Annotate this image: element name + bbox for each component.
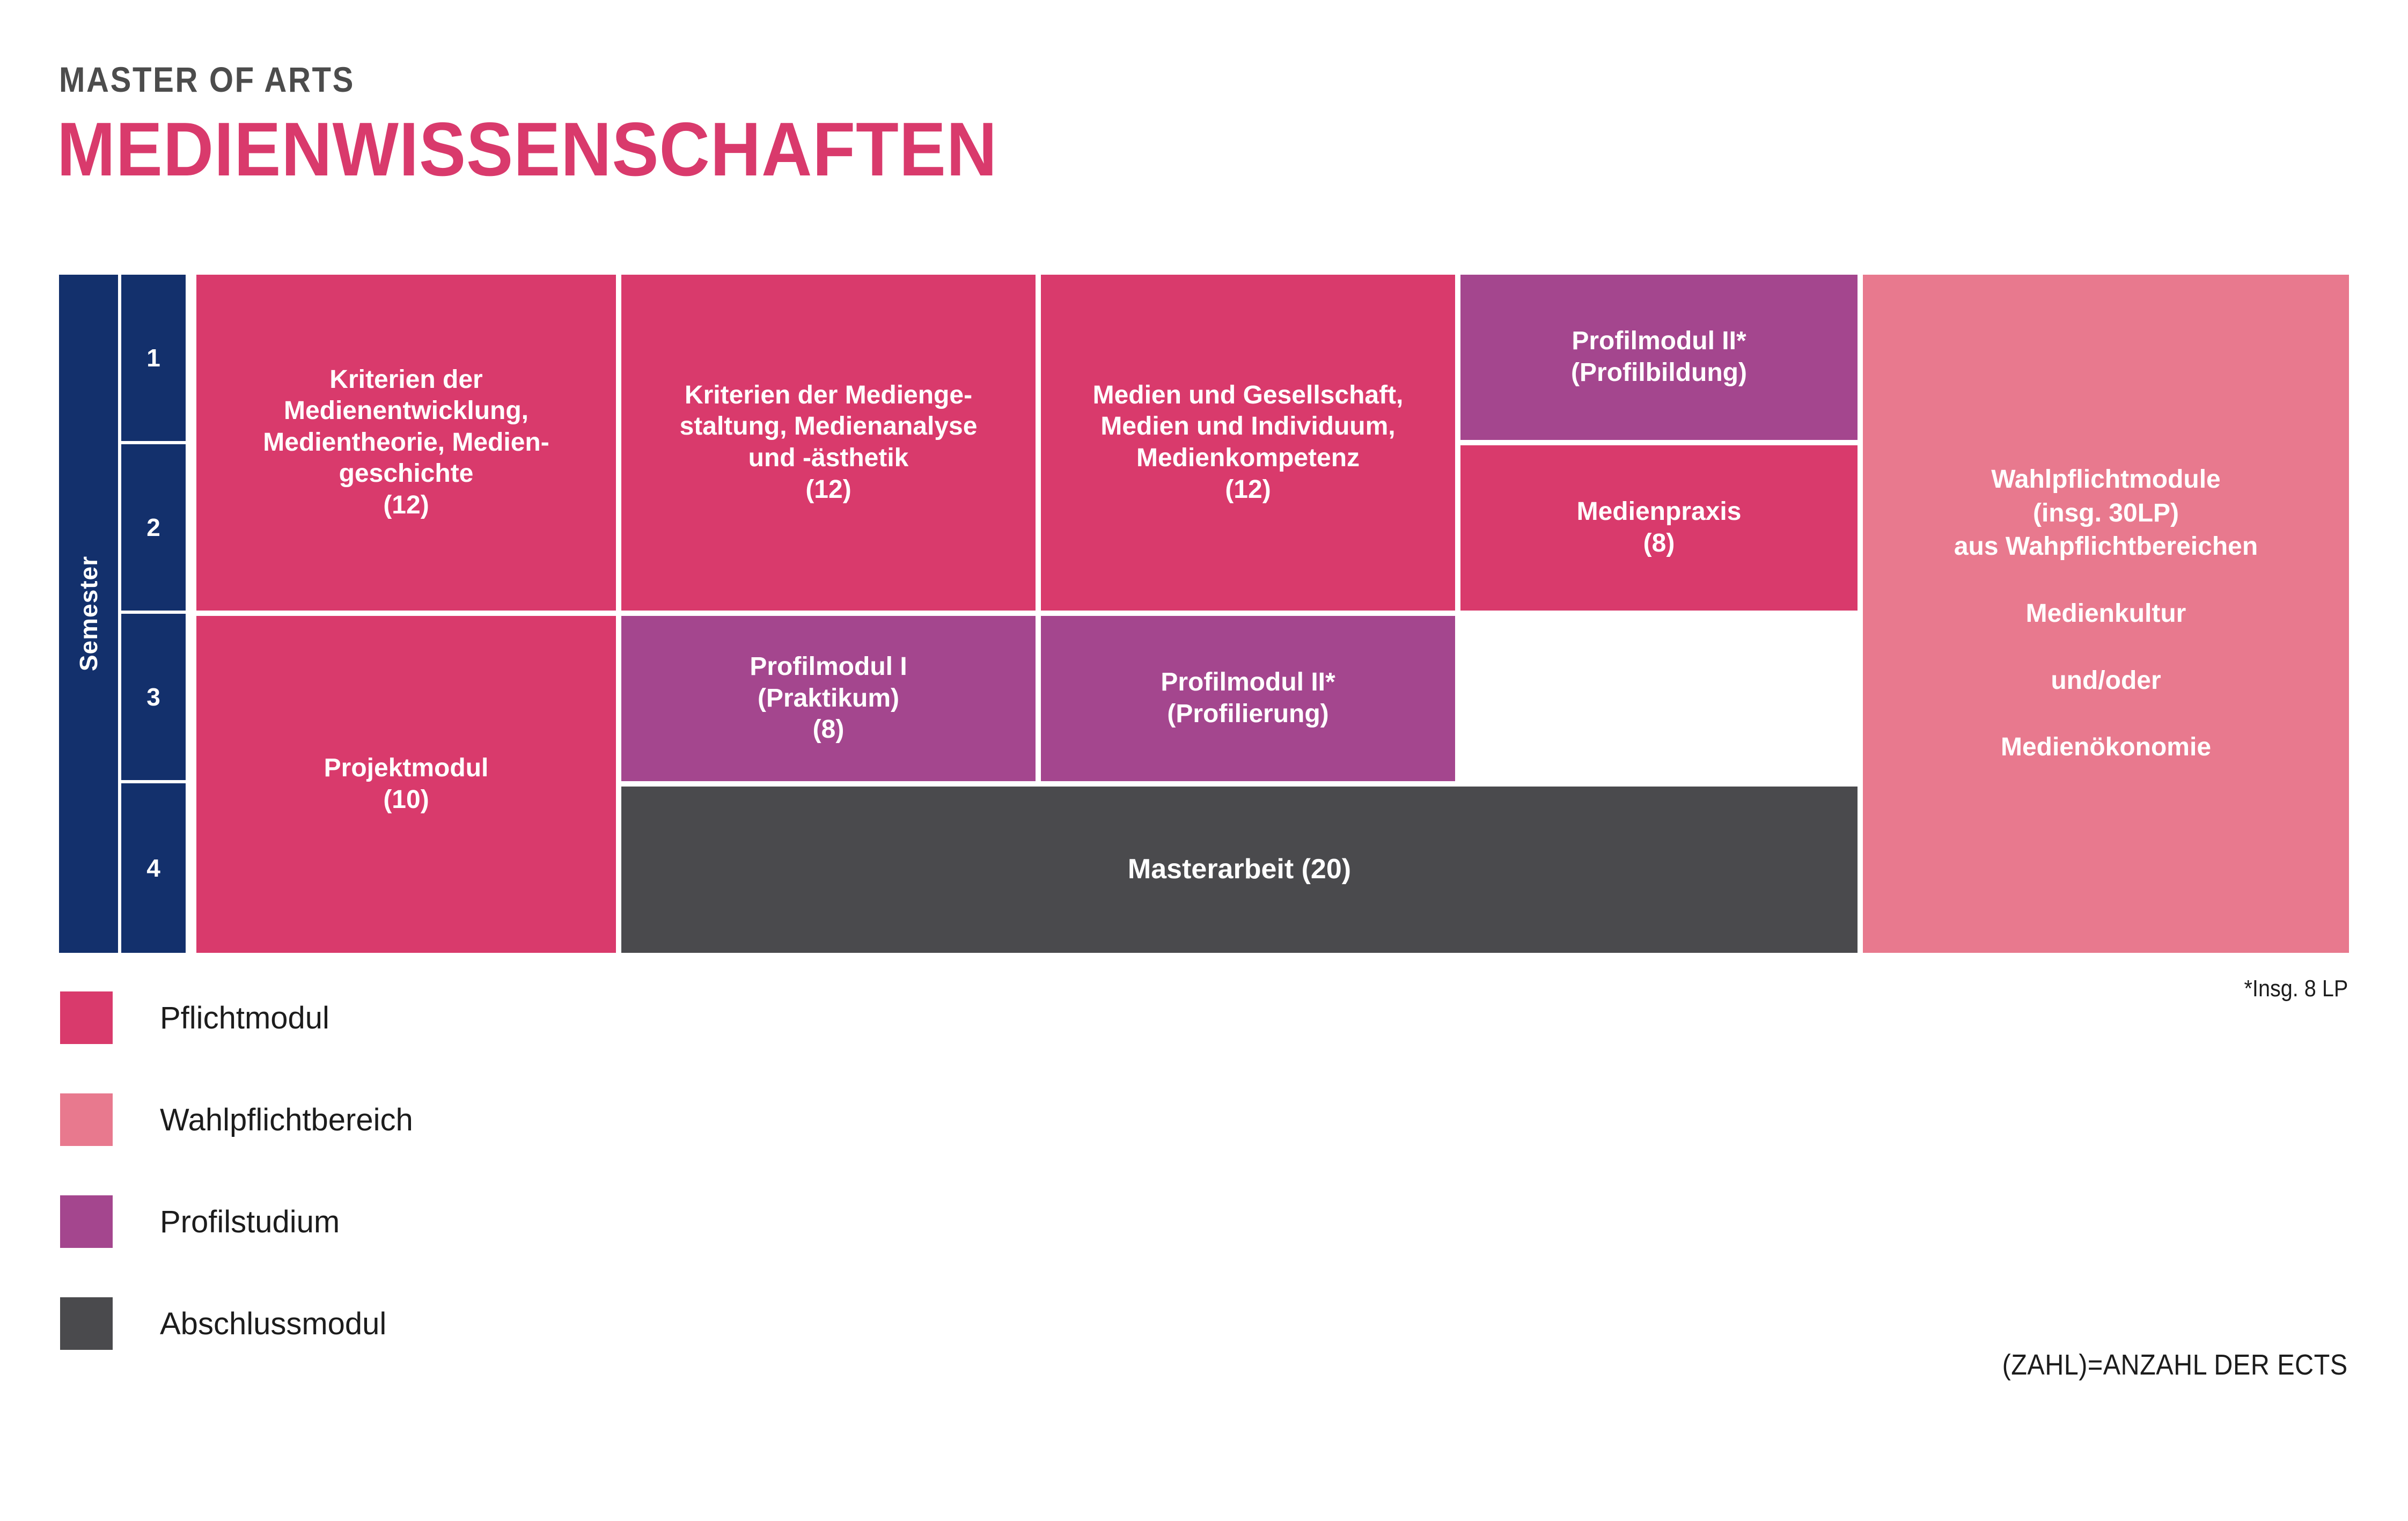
legend-label: Abschlussmodul (160, 1306, 386, 1342)
semester-number: 4 (146, 853, 160, 883)
module-label: Medienpraxis (8) (1577, 496, 1742, 559)
module-medien-und-gesellschaft[interactable]: Medien und Gesellschaft, Medien und Indi… (1041, 275, 1455, 611)
semester-cell-2: 2 (121, 444, 186, 611)
legend-swatch-icon (60, 1195, 113, 1248)
module-medienpraxis[interactable]: Medienpraxis (8) (1460, 445, 1858, 611)
module-label: Projektmodul (10) (324, 753, 489, 815)
legend-label: Wahlpflichtbereich (160, 1102, 413, 1138)
module-profilmodul-i-praktikum[interactable]: Profilmodul I (Praktikum) (8) (621, 616, 1036, 781)
legend-label: Profilstudium (160, 1204, 340, 1240)
semester-cell-3: 3 (121, 614, 186, 780)
module-projektmodul[interactable]: Projektmodul (10) (196, 616, 616, 953)
legend-swatch-icon (60, 1297, 113, 1350)
footnote-star: *Insg. 8 LP (2244, 975, 2348, 1002)
semester-cell-4: 4 (121, 783, 186, 953)
footnote-ects: (ZAHL)=ANZAHL DER ECTS (2002, 1348, 2348, 1382)
module-masterarbeit[interactable]: Masterarbeit (20) (621, 787, 1858, 953)
module-label: Medien und Gesellschaft, Medien und Indi… (1093, 380, 1404, 505)
semester-number: 2 (146, 512, 160, 542)
semester-cell-1: 1 (121, 275, 186, 441)
legend-swatch-icon (60, 1093, 113, 1146)
page-title: MEDIENWISSENSCHAFTEN (57, 112, 997, 188)
module-label: Kriterien der Medienentwicklung, Medient… (263, 364, 549, 521)
module-wahlpflichtmodule[interactable]: Wahlpflichtmodule (insg. 30LP) aus Wahpf… (1863, 275, 2349, 953)
module-label: Profilmodul II* (Profilbildung) (1571, 326, 1747, 388)
module-kriterien-medienentwicklung[interactable]: Kriterien der Medienentwicklung, Medient… (196, 275, 616, 611)
legend-swatch-icon (60, 991, 113, 1044)
module-label: Wahlpflichtmodule (insg. 30LP) aus Wahpf… (1954, 463, 2258, 765)
module-kriterien-mediengestaltung[interactable]: Kriterien der Medienge- staltung, Medien… (621, 275, 1036, 611)
module-label: Masterarbeit (20) (1128, 853, 1351, 886)
module-label: Profilmodul II* (Profilierung) (1161, 667, 1335, 730)
legend-label: Pflichtmodul (160, 1000, 329, 1036)
degree-kicker: MASTER OF ARTS (59, 59, 355, 100)
module-label: Kriterien der Medienge- staltung, Medien… (680, 380, 978, 505)
semester-number: 3 (146, 682, 160, 712)
curriculum-diagram: MASTER OF ARTS MEDIENWISSENSCHAFTEN Seme… (0, 0, 2408, 1521)
module-profilmodul-ii-profilbildung[interactable]: Profilmodul II* (Profilbildung) (1460, 275, 1858, 440)
semester-axis-label: Semester (59, 275, 118, 953)
module-profilmodul-ii-profilierung[interactable]: Profilmodul II* (Profilierung) (1041, 616, 1455, 781)
module-label: Profilmodul I (Praktikum) (8) (750, 651, 907, 746)
semester-axis-label-text: Semester (74, 556, 104, 671)
semester-number: 1 (146, 343, 160, 373)
